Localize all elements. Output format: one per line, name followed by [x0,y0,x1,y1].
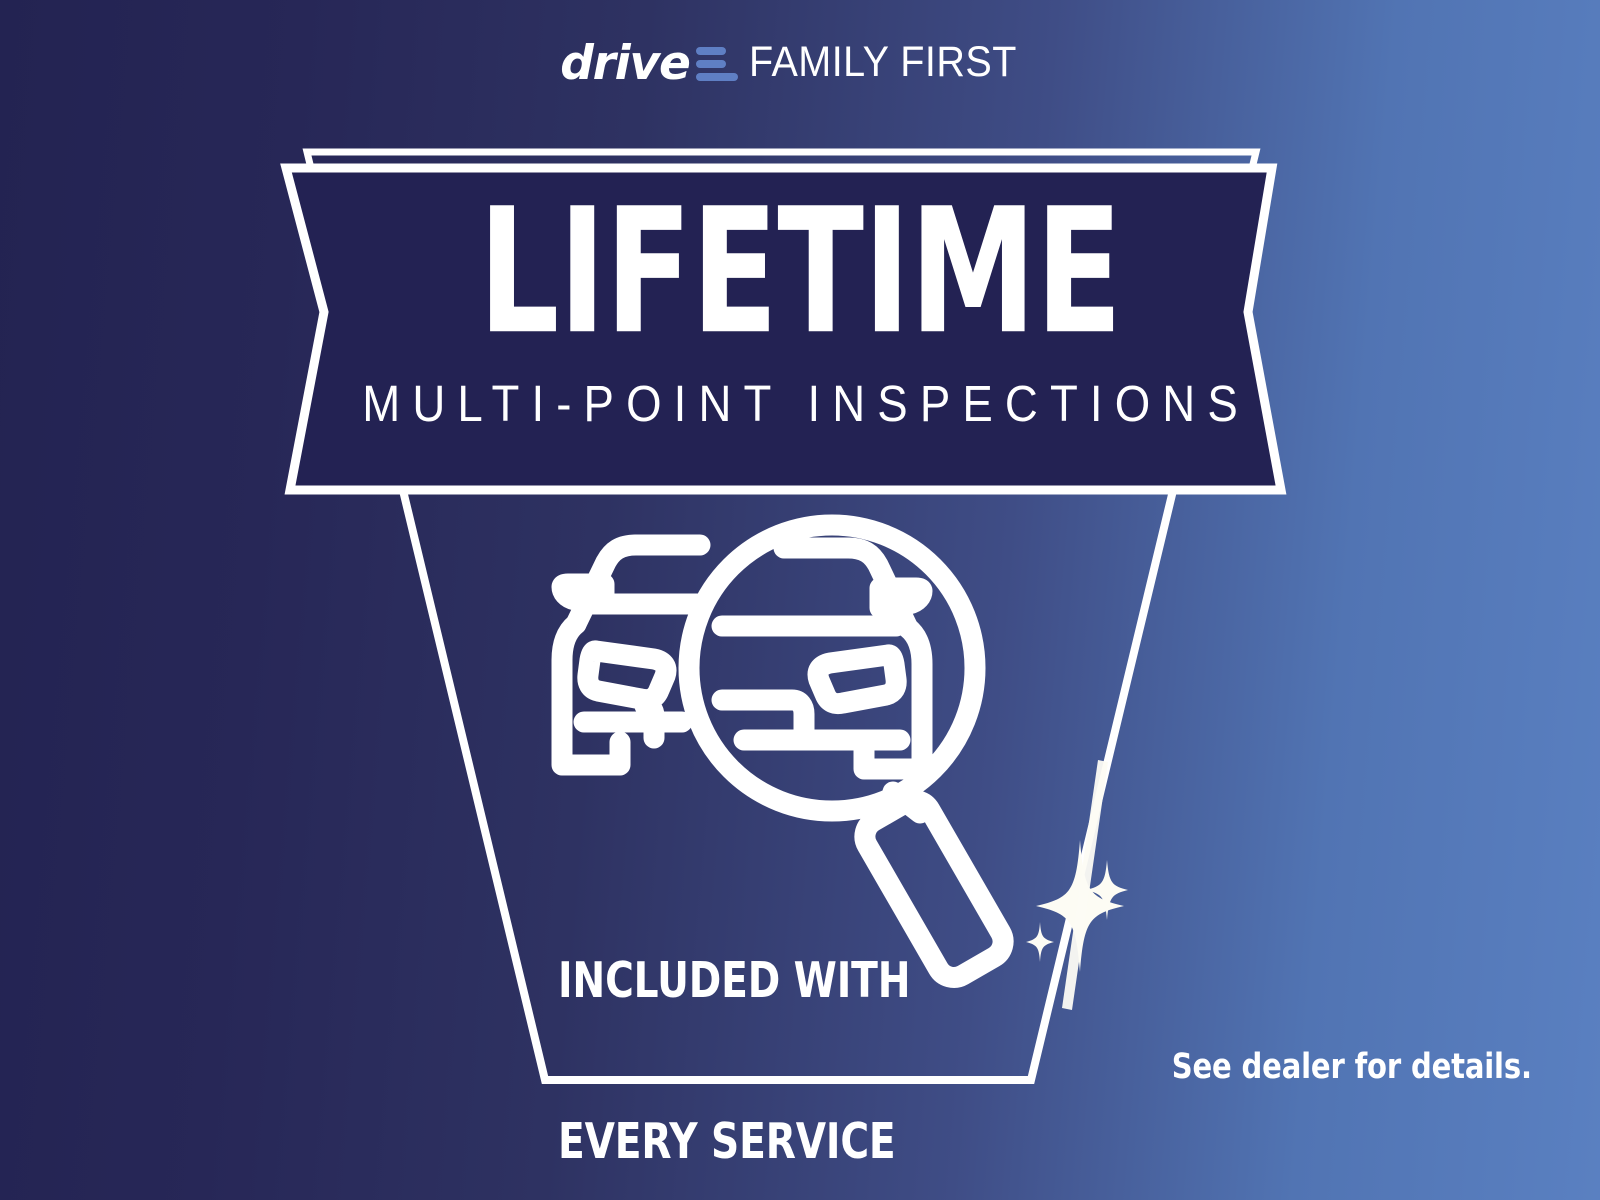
promo-graphic: drive FAMILY FIRST [0,0,1600,1200]
car-icon-magnified [722,548,922,769]
car-magnifier-inspection-icon [562,525,1010,984]
sparkle-icon [1026,760,1128,1010]
banner-shape [286,168,1281,490]
badge-artwork [0,0,1600,1200]
disclaimer-text: See dealer for details. [1172,1050,1532,1085]
body-trapezoid-outline [400,478,1176,1080]
magnifier-handle [858,794,1009,984]
sparkle-small [1026,922,1054,962]
